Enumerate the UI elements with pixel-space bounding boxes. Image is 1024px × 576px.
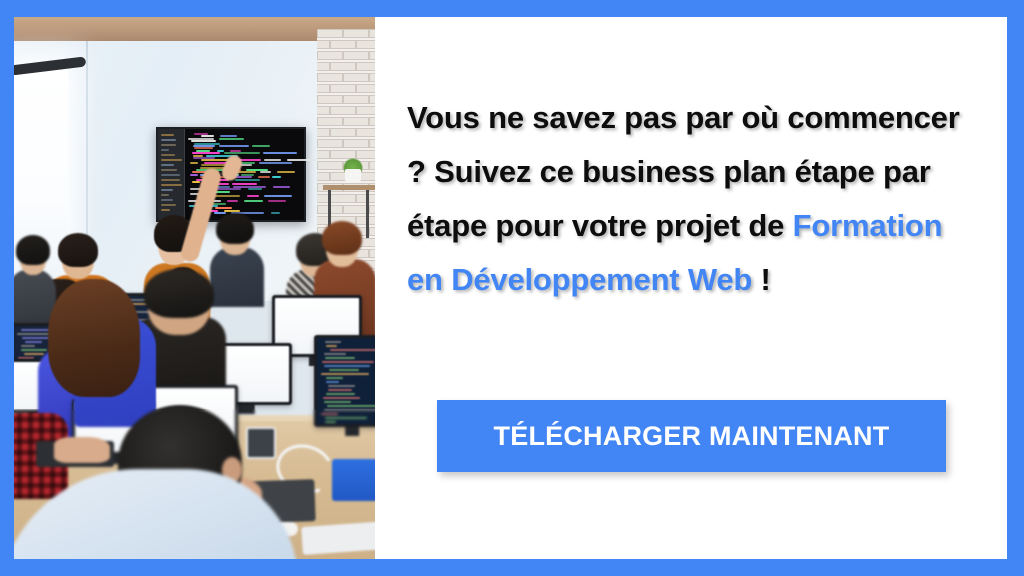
plant-pot	[345, 169, 361, 183]
download-now-button[interactable]: TÉLÉCHARGER MAINTENANT	[437, 400, 946, 472]
side-table-leg	[366, 190, 369, 238]
content-panel: Vous ne savez pas par où commencer ? Sui…	[375, 17, 1007, 559]
headline: Vous ne savez pas par où commencer ? Sui…	[407, 91, 973, 307]
photo-scene	[14, 17, 375, 559]
smartphone	[246, 427, 276, 459]
student-ponytail	[48, 279, 140, 397]
typing-hand	[54, 437, 110, 463]
headline-part-2: !	[752, 262, 771, 297]
blue-box	[332, 459, 375, 501]
classroom-photo	[14, 17, 375, 559]
promo-banner: Vous ne savez pas par où commencer ? Sui…	[0, 0, 1024, 576]
keyboard	[301, 521, 375, 555]
code-editor-sidebar	[158, 129, 185, 220]
